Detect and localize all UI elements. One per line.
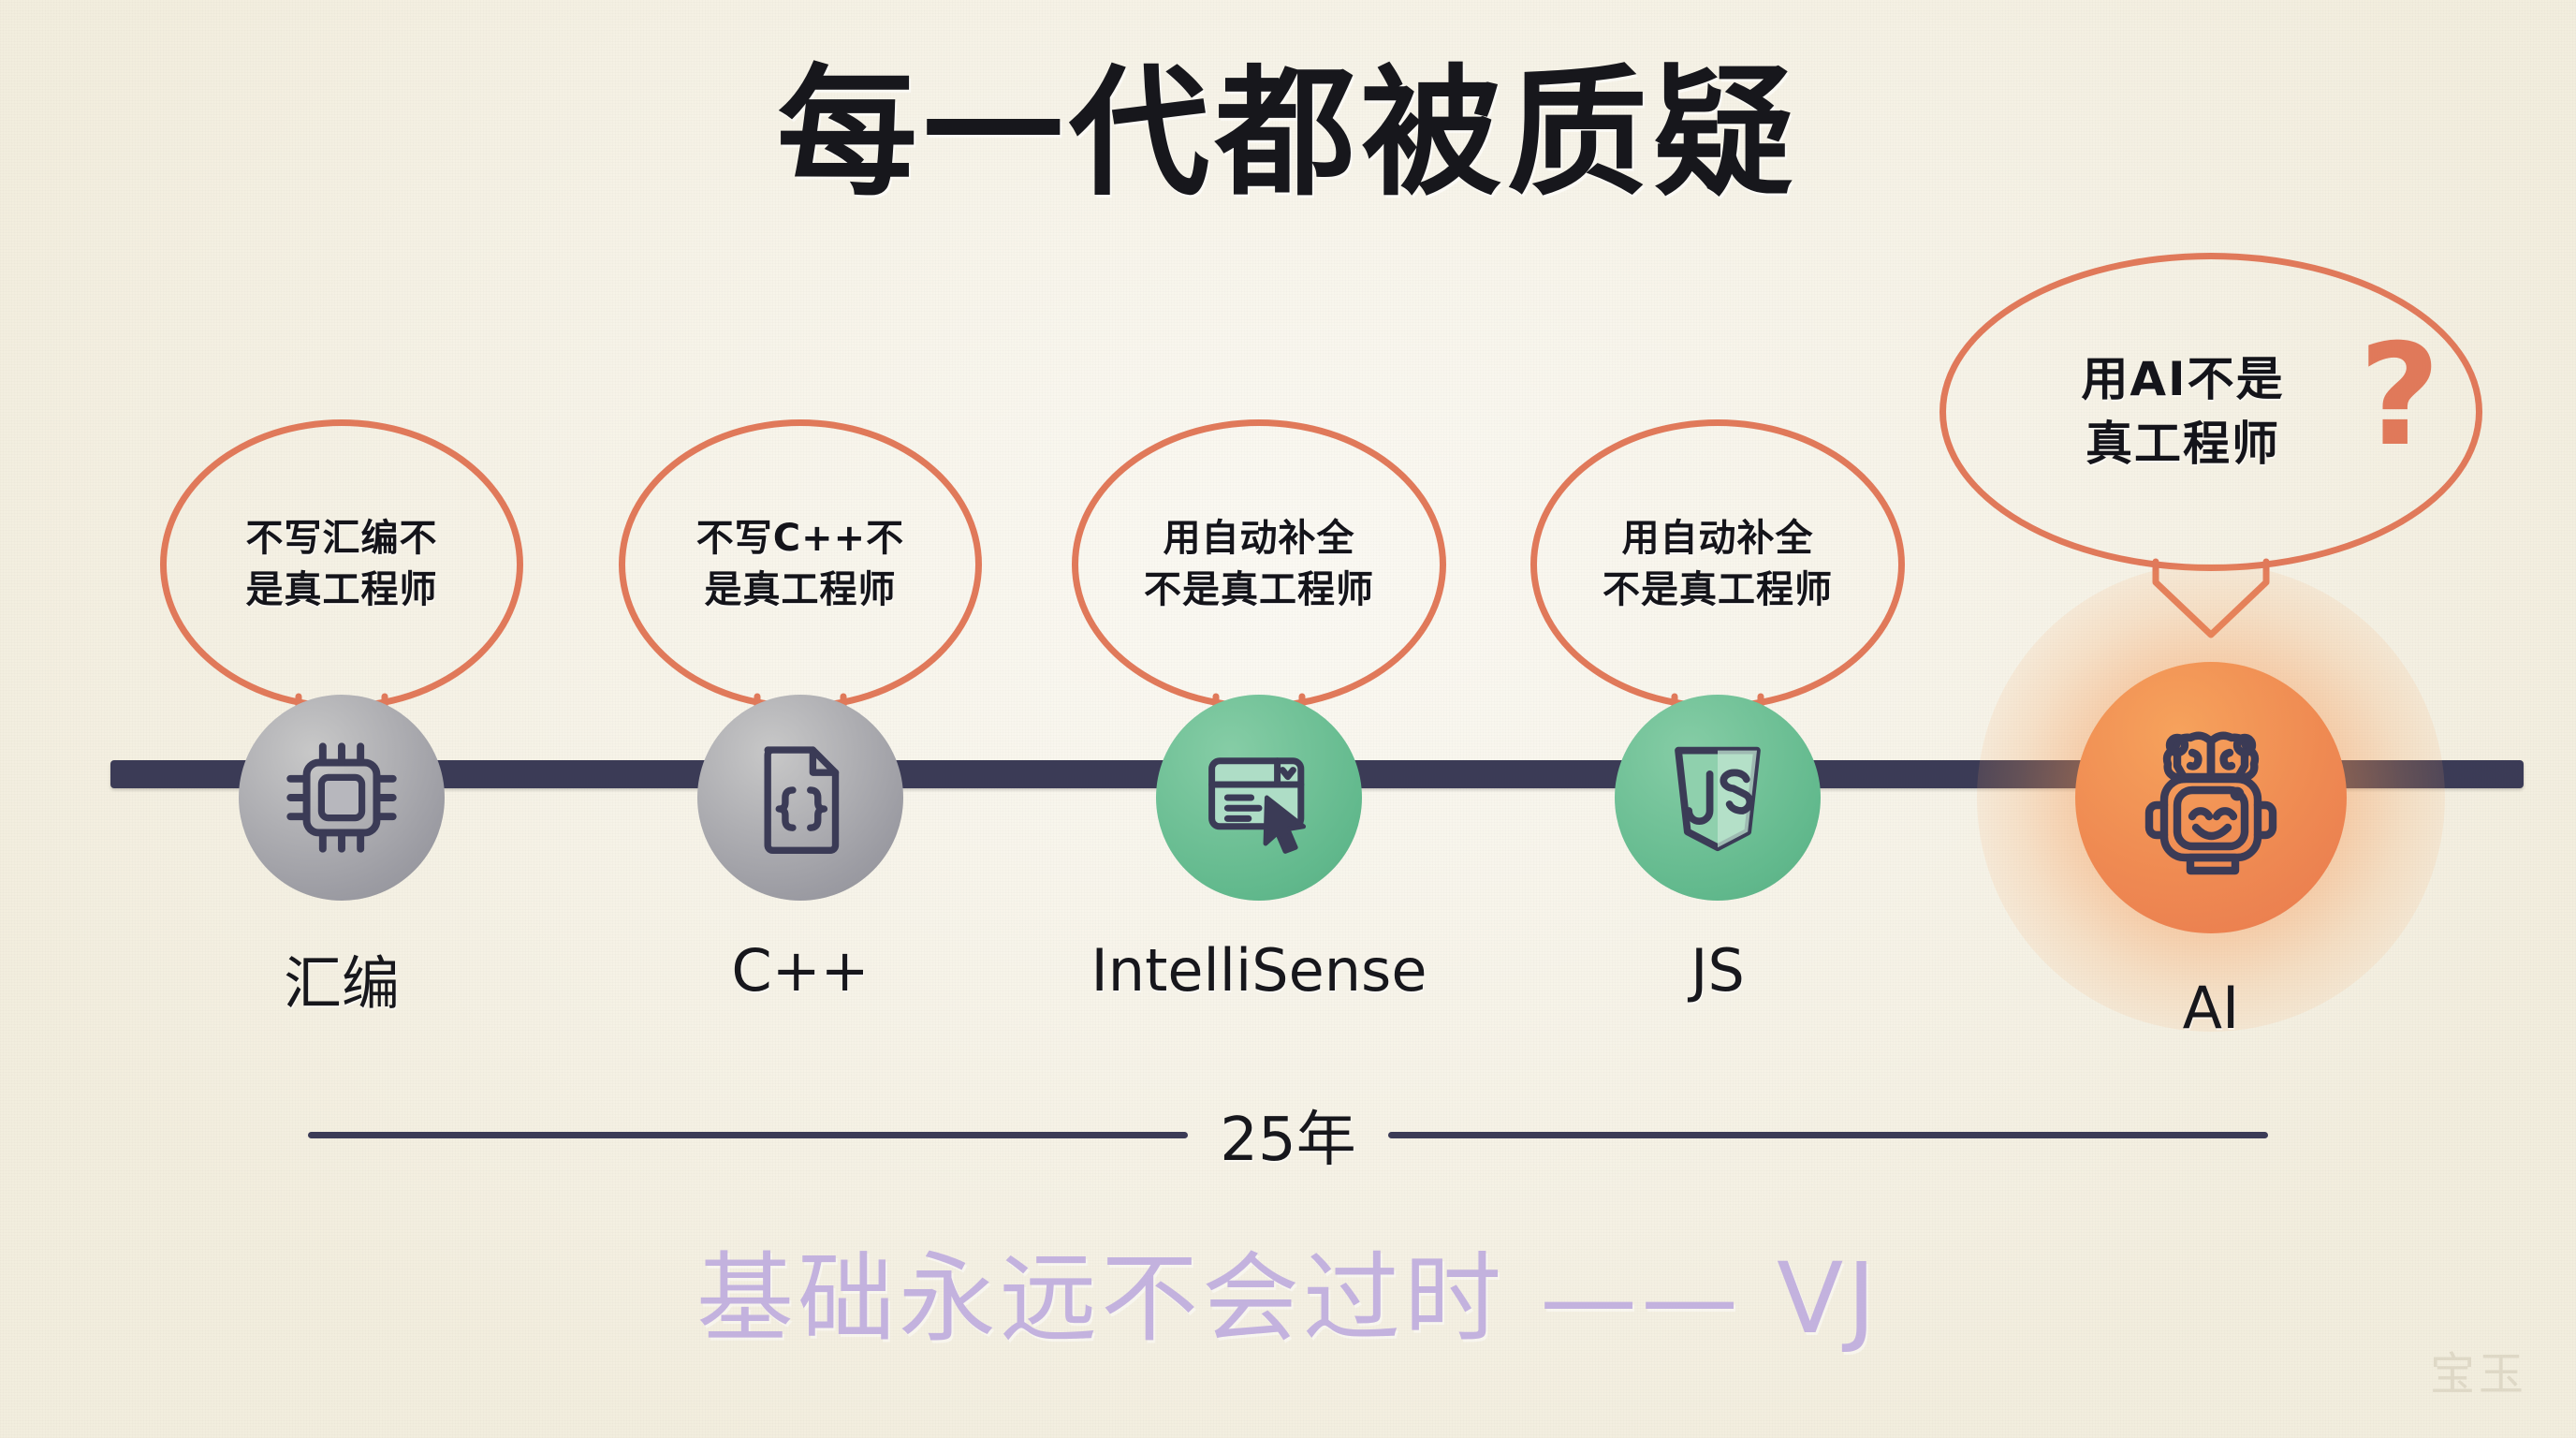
timeline-node-js[interactable] bbox=[1615, 695, 1821, 901]
bubble-line-1: 不写C++不 bbox=[696, 513, 904, 565]
node-label-ai: AI bbox=[2183, 974, 2240, 1042]
page-title: 每一代都被质疑 bbox=[0, 64, 2576, 204]
bubble-line-2: 真工程师 bbox=[2086, 412, 2280, 477]
speech-bubble-js: 用自动补全 不是真工程师 bbox=[1530, 419, 1905, 710]
cpu-chip-icon bbox=[274, 730, 409, 865]
tagline: 基础永远不会过时 —— VJ bbox=[0, 1219, 2576, 1360]
infographic-canvas: 每一代都被质疑 不写汇编不 是真工程师 不写C++不 是真工程师 用自动补全 不… bbox=[0, 0, 2576, 1438]
timeline-node-cpp[interactable] bbox=[697, 695, 903, 901]
bubble-line-2: 是真工程师 bbox=[705, 565, 897, 616]
speech-bubble-assembly: 不写汇编不 是真工程师 bbox=[160, 419, 523, 710]
timeline-node-intellisense[interactable] bbox=[1156, 695, 1362, 901]
bubble-line-2: 是真工程师 bbox=[246, 565, 438, 616]
bubble-line-1: 不写汇编不 bbox=[246, 513, 438, 565]
question-mark-glyph: ? bbox=[2359, 326, 2440, 466]
divider-rule-right bbox=[1388, 1132, 2268, 1138]
bubble-line-1: 用AI不是 bbox=[2081, 347, 2284, 412]
javascript-shield-icon bbox=[1652, 732, 1783, 863]
speech-bubble-intellisense: 用自动补全 不是真工程师 bbox=[1072, 419, 1446, 710]
duration-divider: 25年 bbox=[0, 1092, 2576, 1178]
divider-rule-left bbox=[308, 1132, 1188, 1138]
timeline-node-assembly[interactable] bbox=[239, 695, 445, 901]
bubble-line-1: 用自动补全 bbox=[1622, 513, 1814, 565]
node-label-assembly: 汇编 bbox=[284, 936, 400, 1020]
watermark: 宝玉 bbox=[2430, 1337, 2527, 1402]
autocomplete-cursor-icon bbox=[1193, 732, 1325, 863]
node-label-js: JS bbox=[1690, 936, 1745, 1005]
bubble-line-2: 不是真工程师 bbox=[1144, 565, 1374, 616]
node-label-intellisense: IntelliSense bbox=[1091, 936, 1427, 1005]
bubble-line-1: 用自动补全 bbox=[1164, 513, 1355, 565]
code-file-icon bbox=[738, 735, 863, 860]
timeline-node-ai[interactable] bbox=[2075, 662, 2347, 933]
node-label-cpp: C++ bbox=[731, 936, 869, 1005]
ai-robot-brain-icon bbox=[2117, 704, 2305, 891]
duration-label: 25年 bbox=[1220, 1092, 1355, 1178]
speech-bubble-cpp: 不写C++不 是真工程师 bbox=[619, 419, 982, 710]
bubble-line-2: 不是真工程师 bbox=[1603, 565, 1833, 616]
